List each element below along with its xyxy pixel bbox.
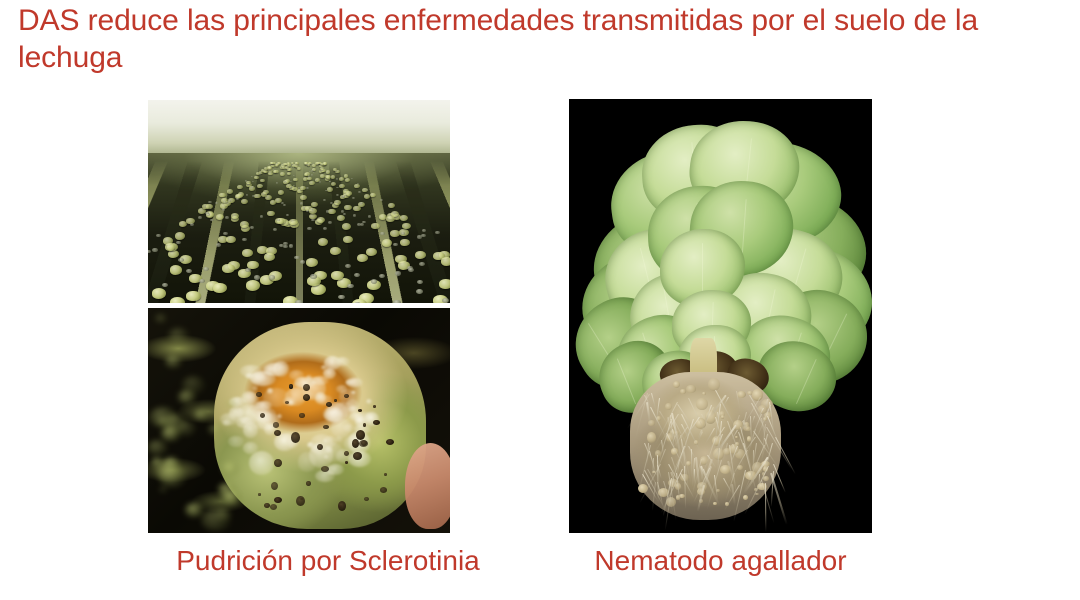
crop-row [296,161,303,303]
sclerotium [384,473,387,476]
root-gall [665,403,672,410]
lettuce-head [240,221,249,227]
soil-clod [395,271,401,275]
root-knot-nematode-photo [569,99,872,533]
sclerotium [256,392,262,397]
lettuce-head [280,172,285,175]
root-gall [721,415,724,419]
lettuce-head [309,181,314,185]
soil-clod [360,202,363,204]
soil-clod [352,197,355,199]
lettuce-head [400,239,410,246]
lettuce-head [202,204,209,209]
sclerotium [356,430,365,439]
white-mycelium [240,365,262,376]
soil-clod [393,300,400,303]
root-gall [686,385,696,392]
soil-clod [313,172,315,173]
soil-clod [308,175,310,176]
soil-clod [250,226,254,229]
sclerotium [306,481,311,485]
soil-clod [354,302,361,303]
white-mycelium [277,414,282,419]
root-gall [696,398,708,409]
background-lettuce-blur [177,421,196,435]
root-gall [743,495,748,500]
lettuce-head [216,214,224,220]
lettuce-head [327,187,333,191]
white-mycelium [336,385,348,393]
white-mycelium [335,357,350,367]
white-mycelium [249,451,274,474]
lettuce-head [175,232,185,239]
soil-clod [269,275,275,279]
soil-clod [307,164,308,165]
soil-clod [251,176,253,177]
white-mycelium [323,439,328,443]
sclerotinia-canvas [148,308,450,533]
soil-clod [371,279,377,283]
background-lettuce-blur [182,376,205,394]
soil-clod [311,174,313,175]
soil-clod [245,180,247,181]
lettuce-head [311,284,325,294]
lettuce-head [222,264,235,273]
lettuce-head [386,216,394,222]
soil-clod [358,191,361,193]
soil-clod [347,284,354,289]
lettuce-head [264,253,276,261]
soil-clod [308,166,310,167]
soil-clod [298,187,300,189]
sclerotium [317,444,323,450]
lettuce-head [331,182,336,186]
soil-clod [360,223,364,226]
soil-clod [308,164,309,165]
soil-clod [313,165,314,166]
field-canvas [148,100,450,303]
soil-clod [442,298,449,303]
soil-clod [307,227,311,230]
lettuce-head [289,219,298,225]
root-gall [673,381,681,388]
lettuce-head [439,279,450,289]
sclerotium [326,402,332,407]
sclerotium [338,501,346,511]
root-gall [680,389,685,394]
background-lettuce-blur [201,509,230,531]
white-mycelium [348,406,359,413]
sclerotium [380,487,387,493]
lettuce-field-photo [148,100,450,303]
soil-clod [215,202,218,204]
sclerotium [303,384,310,391]
lettuce-head [306,258,318,267]
soil-clod [326,210,329,212]
page-title: DAS reduce las principales enfermedades … [18,2,1063,76]
soil-clod [225,216,229,219]
lettuce-head [311,202,318,207]
soil-clod [419,262,425,266]
white-mycelium [366,399,372,404]
soil-clod [300,260,306,264]
white-mycelium [228,436,244,447]
soil-clod [342,195,345,197]
background-lettuce-blur [155,314,167,323]
lettuce-head [260,179,265,183]
soil-clod [319,181,321,183]
lettuce-head [441,257,450,266]
background-lettuce-blur [168,328,188,343]
lettuce-head [382,239,392,246]
sclerotium [323,425,329,429]
soil-clod [354,273,360,277]
background-lettuce-blur [149,407,177,428]
sclerotium [344,451,349,456]
soil-clod [270,164,271,165]
soil-clod [310,274,316,278]
soil-clod [317,164,318,165]
soil-clod [273,169,275,170]
lettuce-head [339,184,345,188]
soil-clod [242,238,247,241]
soil-clod [178,258,184,262]
lettuce-head [170,265,183,274]
soil-clod [264,167,266,168]
lettuce-head [300,195,307,200]
background-lettuce-blur [155,461,181,481]
sclerotium [291,432,300,443]
sclerotium [352,439,360,448]
caption-sclerotinia: Pudrición por Sclerotinia [148,544,508,578]
soil-clod [300,202,303,204]
lettuce-head [353,206,360,211]
lettuce-head [219,193,225,198]
sclerotium [345,461,348,464]
root-gall [702,392,706,395]
soil-clod [223,201,226,203]
soil-clod [294,256,299,260]
lettuce-head [328,209,336,215]
sclerotium [258,493,261,495]
white-mycelium [265,366,276,375]
sclerotium [299,413,304,418]
lettuce-head [415,251,426,259]
lettuce-head [318,238,328,245]
soil-clod [291,164,292,165]
soil-clod [295,300,302,303]
soil-clod [251,186,253,188]
lettuce-head [231,213,239,219]
soil-clod [152,248,157,252]
caption-nematode: Nematodo agallador [569,544,872,578]
soil-clod [336,194,339,196]
soil-clod [156,234,160,237]
background-lettuce-blur [159,486,168,493]
lettuce-head [237,185,243,189]
lettuce-head [323,162,327,165]
sclerotium [274,459,281,467]
sclerotium [373,405,376,408]
soil-clod [222,208,225,210]
sclerotium [274,497,282,503]
soil-clod [311,170,313,171]
lettuce-head [345,178,350,182]
soil-clod [245,268,251,272]
soil-clod [323,227,327,230]
soil-clod [198,216,202,219]
sclerotium [363,423,366,427]
lettuce-head [342,223,351,229]
soil-clod [435,231,439,234]
finger [405,443,450,529]
soil-clod [208,201,211,203]
white-mycelium [243,442,258,454]
lettuce-head [246,280,260,290]
soil-clod [306,187,308,189]
nematode-canvas [569,99,872,533]
lettuce-head [300,186,306,190]
lettuce-head [402,223,411,229]
sclerotinia-rot-photo [148,308,450,533]
sclerotium [273,422,279,427]
root-hair [717,412,719,422]
soil-clod [276,182,278,184]
soil-clod [216,243,221,246]
lettuce-head [339,177,344,181]
field-sky [148,100,450,161]
background-lettuce-blur [226,400,237,408]
lettuce-head [364,194,370,199]
lettuce-head [278,190,284,194]
soil-clod [290,186,292,188]
soil-clod [259,173,261,174]
lettuce-head [390,230,400,237]
soil-clod [353,214,357,217]
background-lettuce-blur [224,491,240,503]
soil-clod [315,180,317,181]
lettuce-head [261,192,267,197]
lettuce-head [227,189,233,193]
background-lettuce-blur [222,462,239,475]
soil-clod [329,181,331,183]
sclerotium [373,420,380,426]
sclerotium [271,482,278,490]
lettuce-head [307,177,312,181]
soil-clod [203,267,209,271]
background-lettuce-blur [208,424,222,435]
soil-clod [282,165,283,166]
soil-clod [380,199,383,201]
